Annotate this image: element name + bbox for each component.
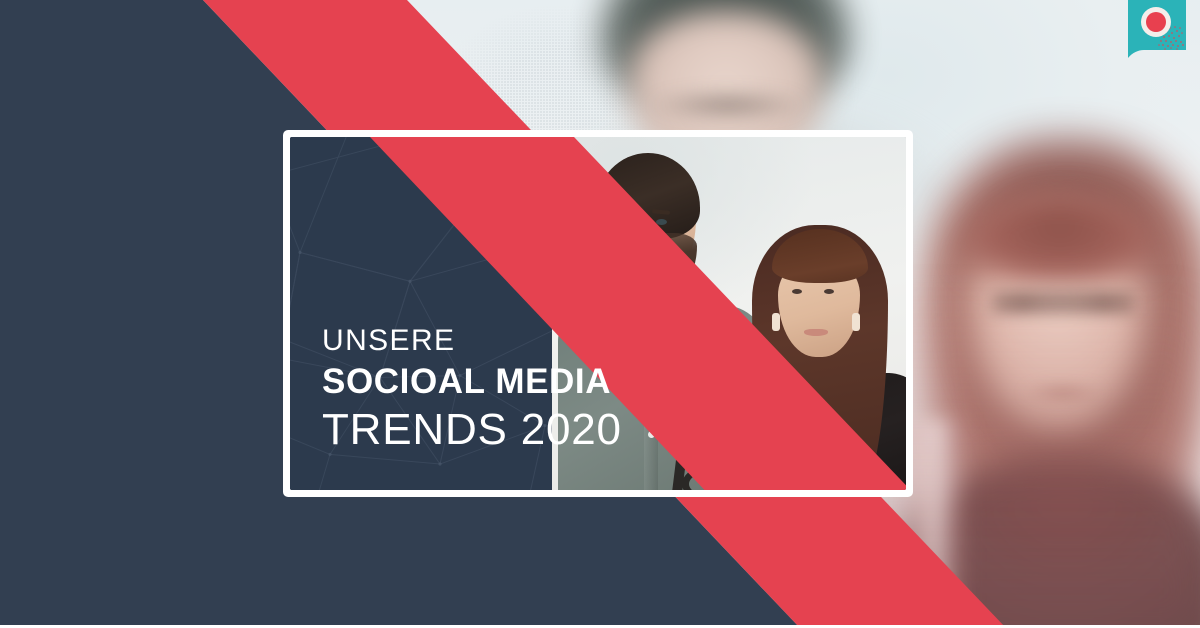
background-man-brow [648, 92, 808, 118]
headline-block: UNSERE SOCIOAL MEDIA TRENDS 2020 [322, 326, 742, 452]
headline-line-3: TRENDS 2020 [322, 408, 742, 452]
microphone-stand [718, 481, 734, 490]
promo-banner: UNSERE SOCIOAL MEDIA TRENDS 2020 [0, 0, 1200, 628]
woman-eye-left [792, 289, 802, 294]
brand-logo[interactable] [1128, 0, 1186, 59]
headline-line-1: UNSERE [322, 326, 742, 356]
man-mouth [632, 255, 662, 263]
woman-earring-left [772, 313, 780, 331]
man-eye-left [622, 219, 633, 225]
woman-eye-right [824, 289, 834, 294]
speech-bubble-logo-icon [1128, 0, 1186, 59]
man-eye-right [656, 219, 667, 225]
headline-line-2: SOCIOAL MEDIA [322, 364, 742, 399]
woman-mouth [804, 329, 828, 336]
woman-earring-right [852, 313, 860, 331]
